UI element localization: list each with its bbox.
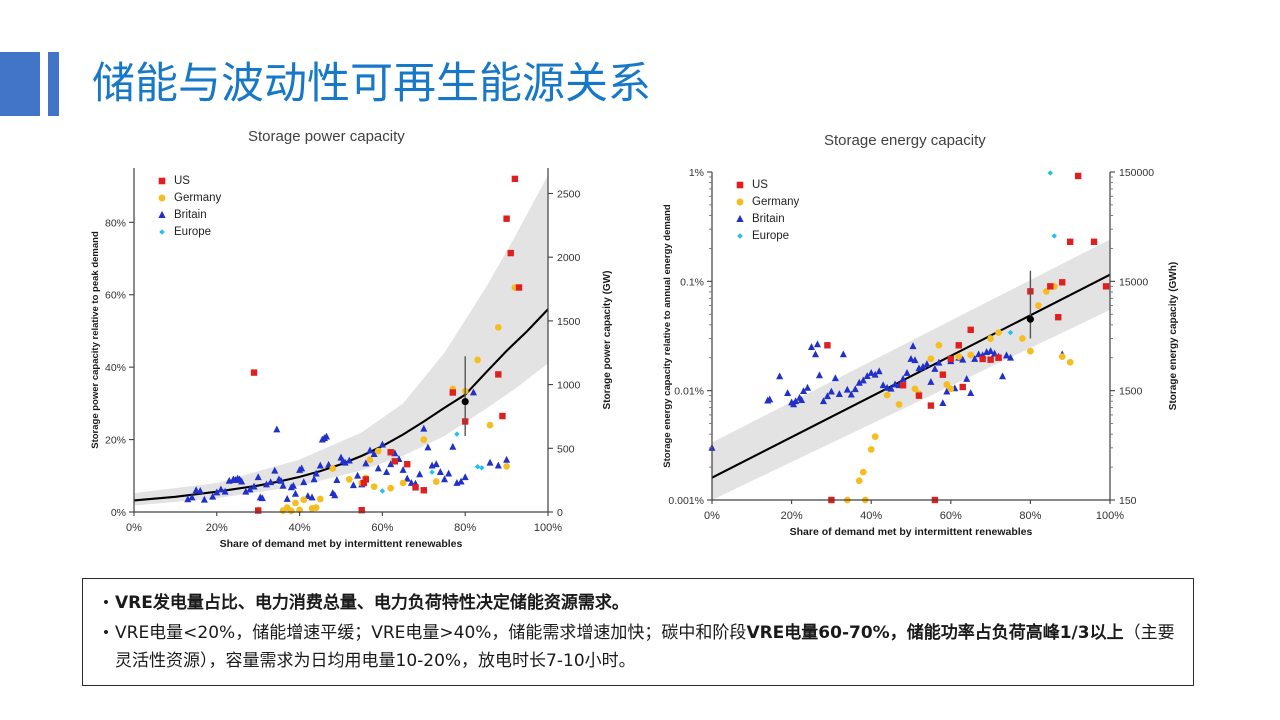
data-point <box>433 478 440 485</box>
x-axis-title: Share of demand met by intermittent rene… <box>220 538 463 550</box>
data-point <box>255 507 261 513</box>
data-point <box>1103 283 1109 289</box>
data-point <box>776 372 783 379</box>
data-point <box>1091 239 1097 245</box>
bullet-glyph: • <box>97 589 115 617</box>
data-point <box>1067 239 1073 245</box>
legend-label-us: US <box>174 175 190 187</box>
legend-label-us: US <box>752 179 768 191</box>
y-tick-label: 0.1% <box>680 276 704 288</box>
data-point <box>503 463 510 470</box>
y-tick-label: 1% <box>689 167 704 179</box>
y-tick-label: 0.001% <box>668 495 704 507</box>
data-point <box>387 449 393 455</box>
data-point <box>808 343 815 350</box>
data-point <box>429 469 434 474</box>
data-point <box>420 436 427 443</box>
legend-marker-us <box>159 178 166 185</box>
data-point <box>832 374 839 381</box>
x-tick-label: 0% <box>126 522 142 534</box>
y-tick-label: 20% <box>105 435 126 447</box>
data-point <box>495 324 502 331</box>
x-tick-label: 60% <box>371 522 393 534</box>
x-tick-label: 100% <box>1096 510 1124 522</box>
data-point <box>479 465 484 470</box>
data-point <box>1019 335 1026 342</box>
data-point <box>967 352 974 359</box>
data-point <box>967 389 974 396</box>
y-right-tick-label: 500 <box>557 443 575 455</box>
data-point <box>474 357 481 364</box>
data-point <box>454 431 459 436</box>
y-axis-title: Storage energy capacity relative to annu… <box>662 204 673 468</box>
data-point <box>292 490 299 497</box>
chart-storage-energy-capacity: 0%20%40%60%80%100%Share of demand met by… <box>662 167 1179 538</box>
data-point <box>329 465 336 472</box>
data-point <box>503 215 509 221</box>
x-tick-label: 100% <box>534 522 562 534</box>
uncertainty-band <box>712 239 1110 500</box>
note-text-2: VRE电量<20%，储能增速平缓；VRE电量>40%，储能需求增速加快；碳中和阶… <box>115 619 1179 675</box>
y-tick-label: 0.01% <box>674 386 704 398</box>
data-point <box>462 473 469 480</box>
y-right-tick-label: 1500 <box>557 316 581 328</box>
y-right-tick-label: 2000 <box>557 252 581 264</box>
x-axis-title: Share of demand met by intermittent rene… <box>790 526 1033 538</box>
data-point <box>487 422 494 429</box>
data-point <box>995 329 1002 336</box>
data-point <box>449 443 456 450</box>
data-point <box>804 384 811 391</box>
data-point <box>251 369 257 375</box>
data-point <box>421 487 427 493</box>
median-marker <box>462 398 469 405</box>
y-right-tick-label: 2500 <box>557 188 581 200</box>
legend-marker-germany <box>737 199 744 206</box>
y-right-tick-label: 0 <box>557 507 563 519</box>
y-right-tick-label: 1000 <box>557 380 581 392</box>
y-right-tick-label: 150000 <box>1119 167 1154 179</box>
data-point <box>512 176 518 182</box>
legend-storage-power-capacity: USGermanyBritainEurope <box>158 175 221 238</box>
data-point <box>1035 302 1042 309</box>
data-point <box>404 461 410 467</box>
data-point <box>868 446 875 453</box>
data-point <box>995 355 1001 361</box>
data-point <box>1027 348 1034 355</box>
data-point <box>960 384 966 390</box>
data-point <box>856 477 863 484</box>
data-point <box>375 448 382 455</box>
median-marker <box>1027 316 1034 323</box>
data-point <box>884 392 891 399</box>
note-bullet-2: • VRE电量<20%，储能增速平缓；VRE电量>40%，储能需求增速加快；碳中… <box>97 619 1179 675</box>
data-point <box>1059 279 1065 285</box>
data-point <box>999 372 1006 379</box>
data-point <box>508 250 514 256</box>
x-tick-label: 80% <box>1019 510 1041 522</box>
data-point <box>928 402 934 408</box>
data-point <box>956 342 962 348</box>
data-point <box>968 327 974 333</box>
data-point <box>1048 170 1053 175</box>
data-point <box>495 462 502 469</box>
legend-label-germany: Germany <box>174 192 222 204</box>
legend-label-britain: Britain <box>752 213 785 225</box>
legend-marker-us <box>737 182 744 189</box>
data-point <box>288 508 295 515</box>
data-point <box>872 433 879 440</box>
data-point <box>416 470 423 477</box>
x-tick-label: 0% <box>704 510 720 522</box>
data-point <box>503 456 510 463</box>
data-point <box>371 483 378 490</box>
x-tick-label: 20% <box>781 510 803 522</box>
data-point <box>840 350 847 357</box>
note-text-1: VRE发电量占比、电力消费总量、电力负荷特性决定储能资源需求。 <box>115 589 629 617</box>
x-tick-label: 40% <box>860 510 882 522</box>
data-point <box>354 472 361 479</box>
bullet-glyph: • <box>97 619 115 647</box>
note-seg-b: VRE电量60-70%，储能功率占负荷高峰1/3以上 <box>746 623 1123 643</box>
data-point <box>487 459 494 466</box>
data-point <box>947 385 954 392</box>
x-tick-label: 80% <box>454 522 476 534</box>
y-axis-right-title: Storage power capacity (GW) <box>602 271 613 410</box>
data-point <box>979 356 985 362</box>
y-tick-label: 60% <box>105 290 126 302</box>
data-point <box>955 353 962 360</box>
data-point <box>400 480 407 487</box>
data-point <box>987 356 993 362</box>
y-right-tick-label: 150 <box>1119 495 1137 507</box>
data-point <box>412 484 418 490</box>
data-point <box>860 469 867 476</box>
y-tick-label: 0% <box>111 507 126 519</box>
data-point <box>900 382 906 388</box>
data-point <box>292 500 299 507</box>
data-point <box>475 464 480 469</box>
data-point <box>499 413 505 419</box>
legend-label-germany: Germany <box>752 196 800 208</box>
data-point <box>1052 233 1057 238</box>
data-point <box>284 495 291 502</box>
note-seg-a: VRE电量<20%，储能增速平缓；VRE电量>40%，储能需求增速加快；碳中和阶… <box>115 623 746 643</box>
data-point <box>987 335 994 342</box>
data-point <box>816 371 823 378</box>
legend-marker-europe <box>737 233 743 239</box>
data-point <box>273 425 280 432</box>
data-point <box>940 371 946 377</box>
data-point <box>317 496 324 503</box>
data-point <box>363 476 369 482</box>
data-point <box>367 456 374 463</box>
legend-marker-britain <box>736 215 743 222</box>
x-tick-label: 40% <box>289 522 311 534</box>
data-point <box>824 342 830 348</box>
data-point <box>939 399 946 406</box>
data-point <box>896 401 903 408</box>
data-point <box>1055 314 1061 320</box>
data-point <box>1059 353 1066 360</box>
data-point <box>375 465 382 472</box>
y-tick-label: 80% <box>105 217 126 229</box>
data-point <box>387 485 394 492</box>
data-point <box>346 476 353 483</box>
y-tick-label: 40% <box>105 362 126 374</box>
data-point <box>948 356 954 362</box>
legend-label-europe: Europe <box>174 226 211 238</box>
data-point <box>437 468 444 475</box>
legend-label-europe: Europe <box>752 230 789 242</box>
data-point <box>445 470 452 477</box>
data-point <box>450 389 456 395</box>
data-point <box>784 389 791 396</box>
data-point <box>433 460 440 467</box>
chart-storage-power-capacity: 0%20%40%60%80%100%Share of demand met by… <box>90 168 613 550</box>
legend-marker-britain <box>158 211 165 218</box>
summary-note-box: • VRE发电量占比、电力消费总量、电力负荷特性决定储能资源需求。 • VRE电… <box>82 578 1194 686</box>
note-bullet-1: • VRE发电量占比、电力消费总量、电力负荷特性决定储能资源需求。 <box>97 589 1179 617</box>
x-tick-label: 60% <box>940 510 962 522</box>
legend-marker-germany <box>159 195 166 202</box>
data-point <box>812 350 819 357</box>
y-right-tick-label: 1500 <box>1119 386 1143 398</box>
y-axis-right-title: Storage energy capacity (GWh) <box>1168 262 1179 410</box>
data-point <box>516 284 522 290</box>
data-point <box>313 504 320 511</box>
data-point <box>814 340 821 347</box>
legend-label-britain: Britain <box>174 209 207 221</box>
data-point <box>928 355 935 362</box>
legend-marker-europe <box>159 229 165 235</box>
x-tick-label: 20% <box>206 522 228 534</box>
data-point <box>1047 283 1053 289</box>
data-point <box>392 458 398 464</box>
data-point <box>916 392 922 398</box>
data-point <box>1075 173 1081 179</box>
data-point <box>1067 359 1074 366</box>
data-point <box>495 371 501 377</box>
legend-storage-energy-capacity: USGermanyBritainEurope <box>736 179 799 242</box>
y-axis-title: Storage power capacity relative to peak … <box>90 231 101 449</box>
data-point <box>300 496 307 503</box>
y-right-tick-label: 15000 <box>1119 276 1148 288</box>
data-point <box>383 468 390 475</box>
data-point <box>936 342 943 349</box>
trend-line <box>712 275 1110 478</box>
data-point <box>380 488 385 493</box>
